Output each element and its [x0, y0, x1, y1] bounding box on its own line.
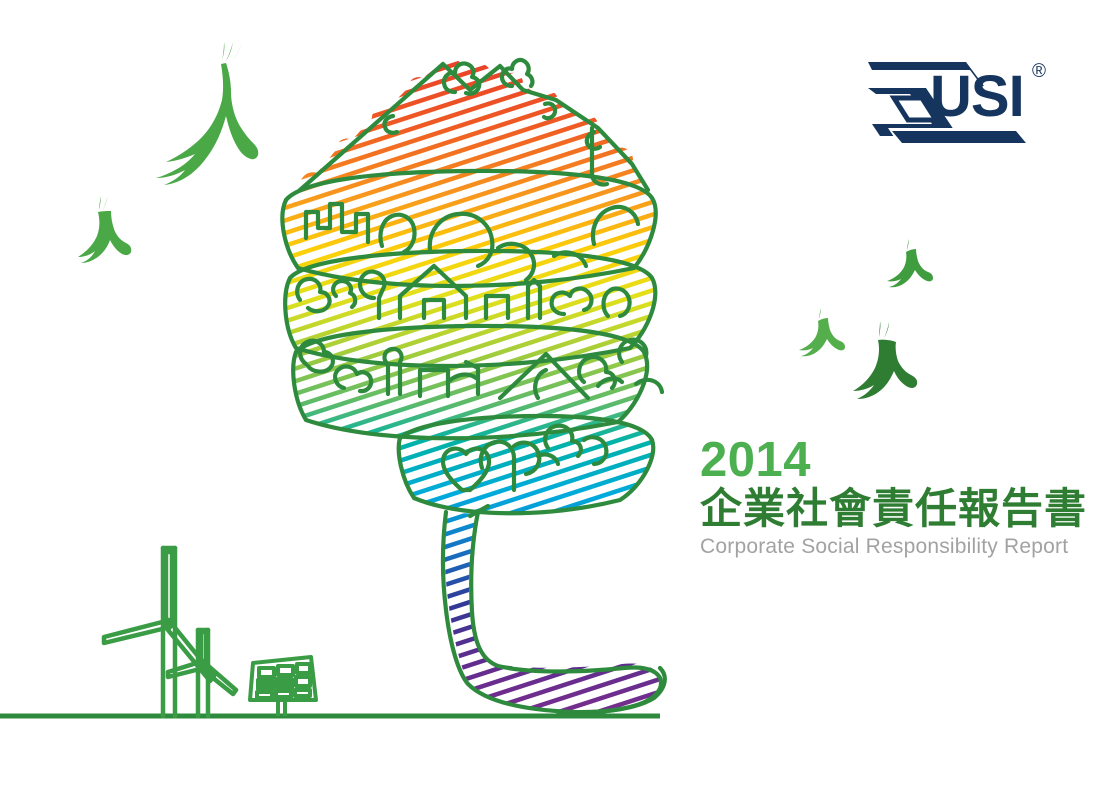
- report-title-english: Corporate Social Responsibility Report: [700, 535, 1080, 558]
- bird-large-left: [156, 42, 258, 185]
- bird-small-left: [78, 196, 131, 263]
- usi-logo-mark: USI: [866, 58, 1046, 143]
- bird-small-right-top: [887, 239, 933, 287]
- solar-panel: [250, 657, 316, 716]
- report-cover-page: USI ® 2014 企業社會責任報告書 Corporate Social Re…: [0, 0, 1117, 790]
- report-title-chinese: 企業社會責任報告書: [700, 487, 1080, 531]
- usi-logo: USI ®: [866, 58, 1046, 143]
- usi-wordmark: USI: [930, 64, 1024, 129]
- cover-title-block: 2014 企業社會責任報告書 Corporate Social Responsi…: [700, 436, 1080, 558]
- registered-trademark-icon: ®: [1032, 62, 1046, 81]
- report-year: 2014: [700, 436, 1080, 485]
- bird-small-right-lower: [853, 321, 917, 399]
- bird-small-right-middle: [799, 308, 845, 356]
- tree-illustration: [282, 59, 664, 713]
